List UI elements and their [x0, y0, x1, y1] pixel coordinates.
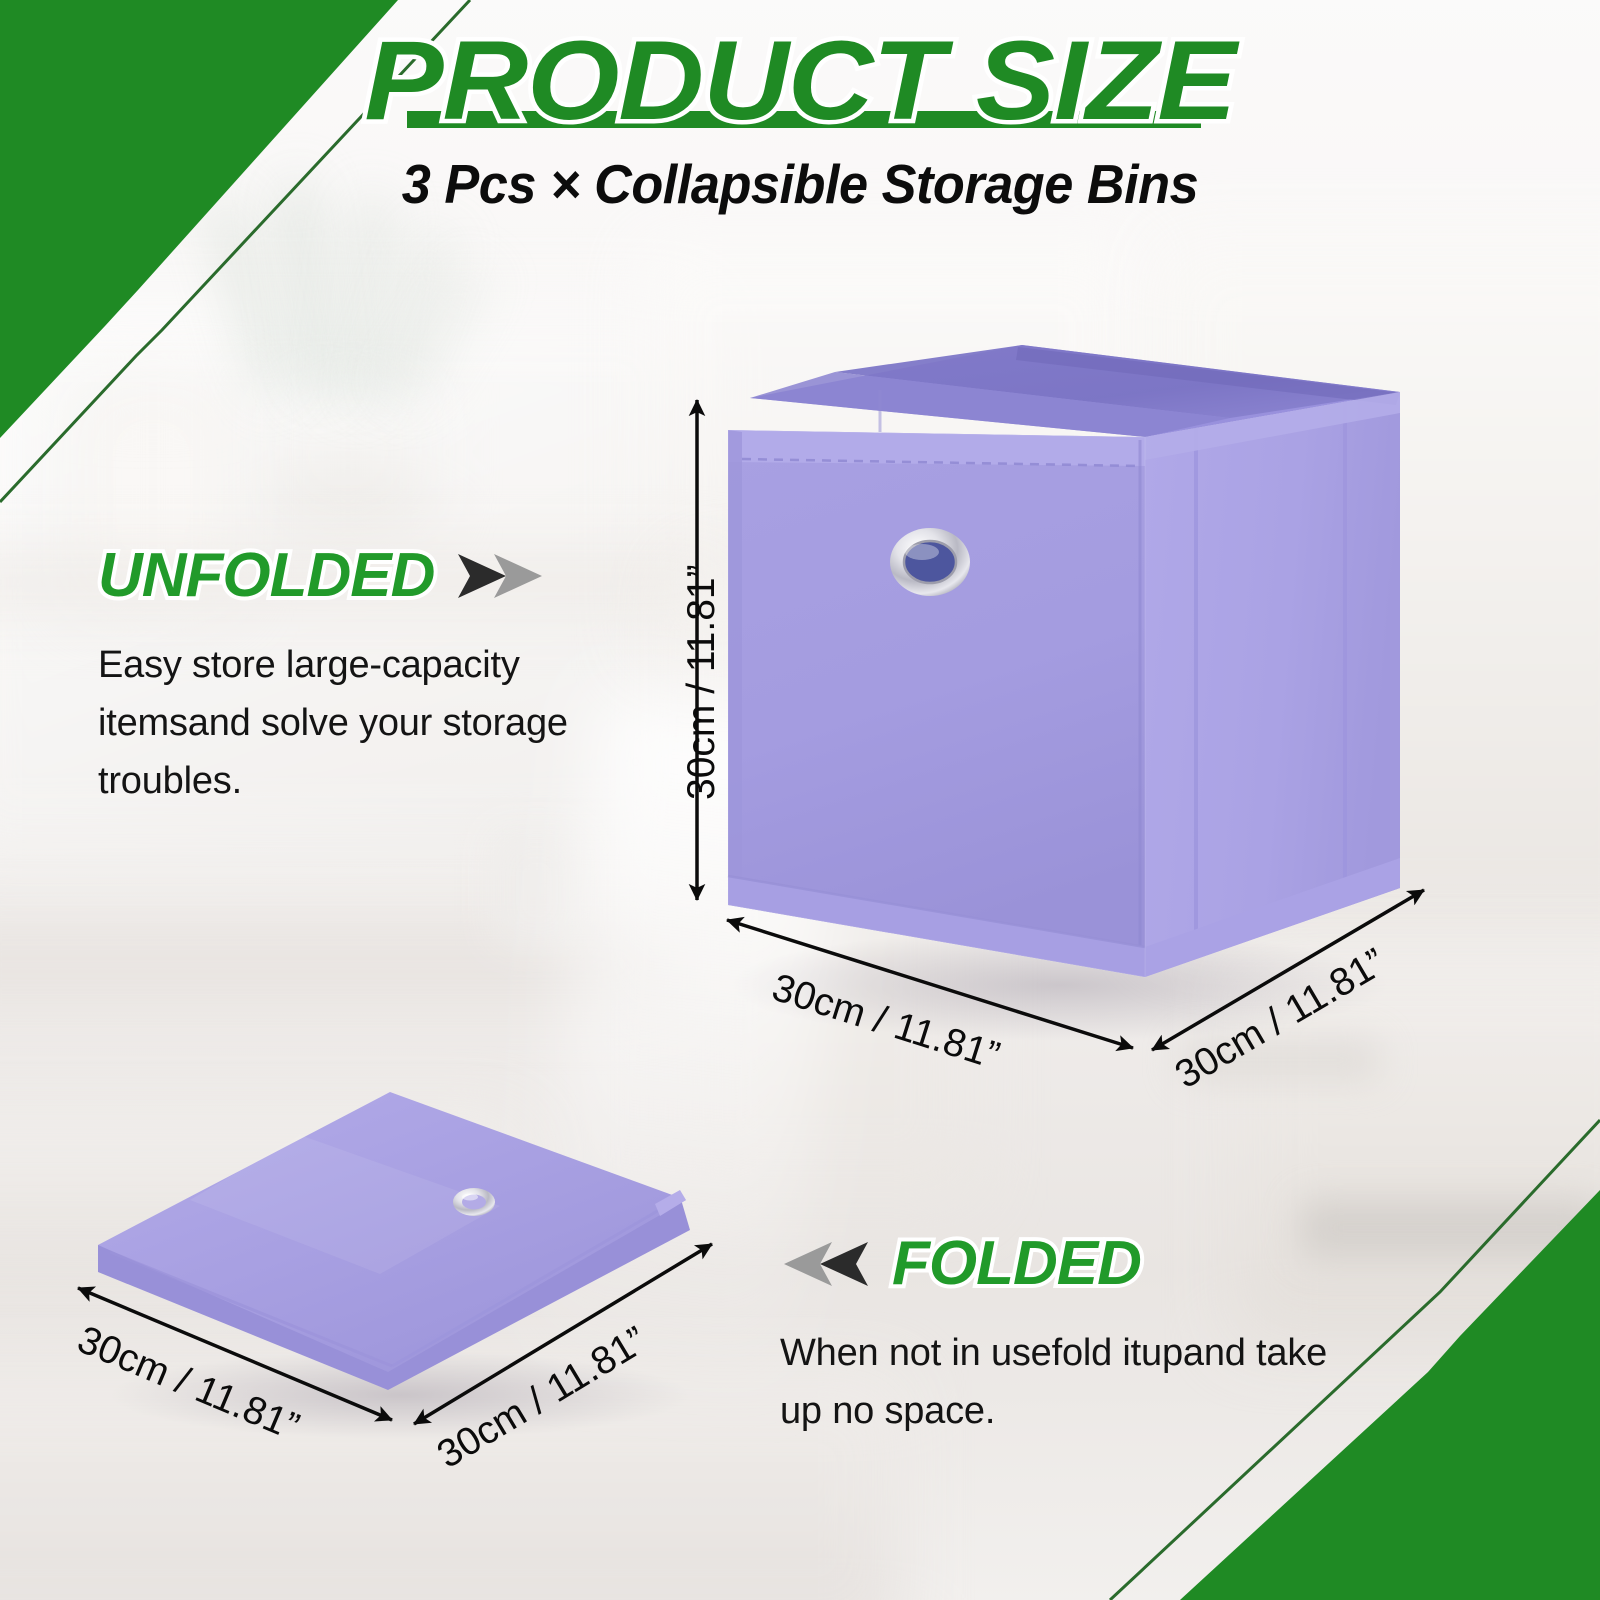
feature-folded-label: FOLDED: [892, 1228, 1141, 1299]
feature-unfolded: UNFOLDED Easy store large-capacity items…: [98, 540, 618, 810]
feature-folded-body: When not in usefold itupand take up no s…: [780, 1325, 1340, 1441]
page-title-wrap: PRODUCT SIZE: [389, 24, 1211, 138]
feature-unfolded-body: Easy store large-capacity itemsand solve…: [98, 637, 618, 810]
feature-unfolded-heading: UNFOLDED: [98, 540, 618, 611]
feature-unfolded-label: UNFOLDED: [98, 540, 434, 611]
page-subtitle: 3 Pcs × Collapsible Storage Bins: [40, 152, 1560, 216]
feature-folded-heading: FOLDED: [780, 1228, 1340, 1299]
feature-folded: FOLDED When not in usefold itupand take …: [780, 1228, 1340, 1441]
header: PRODUCT SIZE 3 Pcs × Collapsible Storage…: [0, 24, 1600, 216]
infographic-canvas: PRODUCT SIZE 3 Pcs × Collapsible Storage…: [0, 0, 1600, 1600]
dimension-label-unfolded-height: 30cm / 11.81”: [680, 564, 724, 800]
page-title: PRODUCT SIZE: [364, 24, 1235, 138]
double-chevron-right-icon: [450, 550, 546, 602]
double-chevron-left-icon: [780, 1238, 876, 1290]
